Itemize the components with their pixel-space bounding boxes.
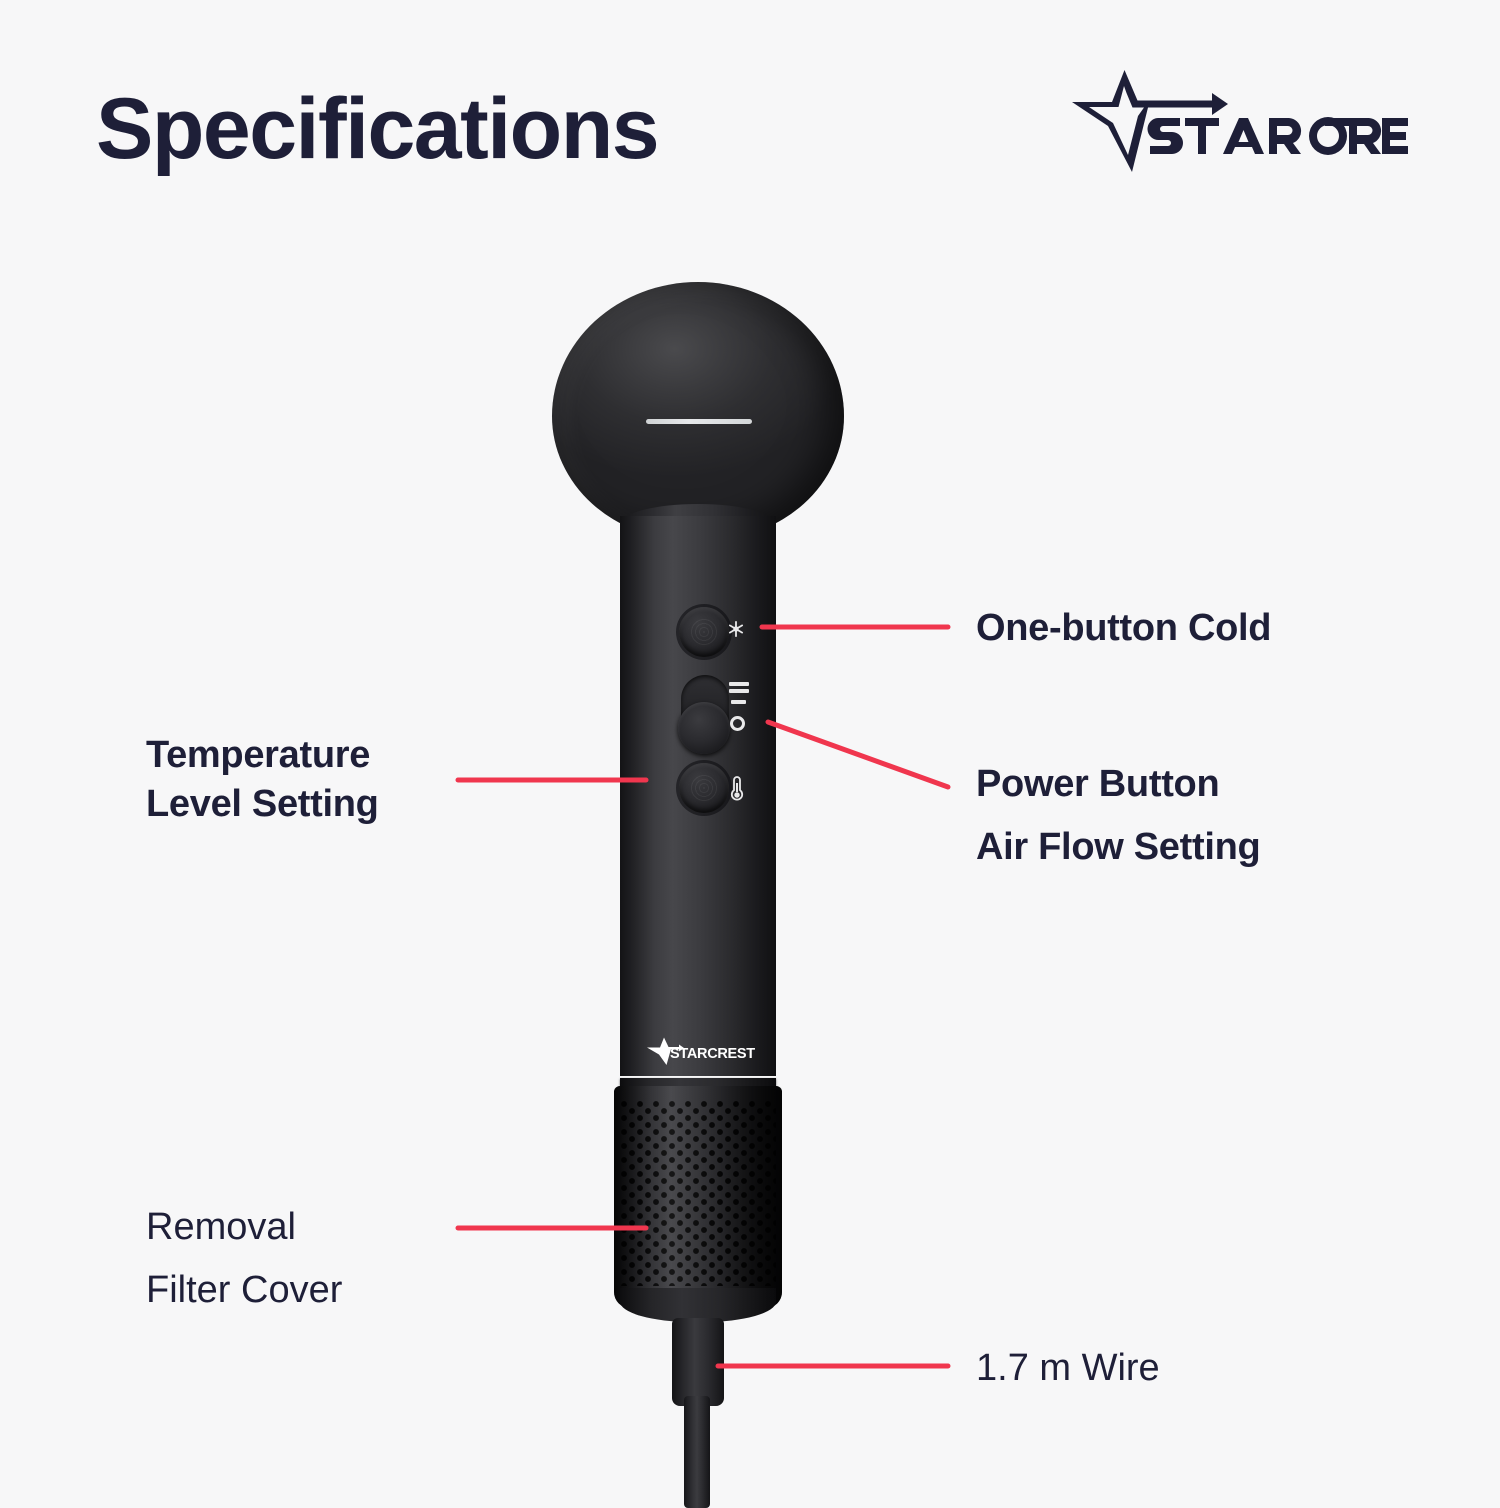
circle-off-icon (730, 716, 745, 731)
cold-shot-button[interactable] (679, 607, 729, 657)
filter-shading (614, 1086, 782, 1308)
handle-brand-logo: STARCREST (645, 1036, 757, 1066)
callout-line: Level Setting (146, 780, 379, 829)
temperature-button[interactable] (679, 763, 729, 813)
thermometer-icon (729, 775, 745, 801)
power-cord (684, 1396, 710, 1508)
svg-text:STARCREST: STARCREST (670, 1046, 755, 1062)
callout-line: Power Button (976, 760, 1219, 809)
callout-line: Filter Cover (146, 1259, 342, 1322)
callout-removal-filter-cover: Removal Filter Cover (146, 1196, 342, 1321)
dryer-nozzle-head (552, 282, 844, 540)
callout-line: One-button Cold (976, 604, 1271, 653)
power-slider-knob[interactable] (678, 702, 730, 754)
nozzle-slot (646, 419, 752, 424)
callout-air-flow-setting: Air Flow Setting (976, 823, 1260, 872)
callout-temperature-level-setting: Temperature Level Setting (146, 731, 379, 828)
infographic-canvas: Specifications (0, 0, 1500, 1500)
callout-line: Air Flow Setting (976, 823, 1260, 872)
callout-line: Removal (146, 1196, 342, 1259)
filter-seam (620, 1078, 776, 1086)
callout-wire-length: 1.7 m Wire (976, 1337, 1160, 1400)
callout-line: 1.7 m Wire (976, 1337, 1160, 1400)
snowflake-icon (727, 620, 745, 638)
callout-one-button-cold: One-button Cold (976, 604, 1271, 653)
cord-strain-relief (672, 1318, 724, 1406)
filter-bottom-cap (620, 1288, 776, 1322)
callout-power-button: Power Button (976, 760, 1219, 809)
filter-cover[interactable] (614, 1086, 782, 1308)
two-bars-icon (729, 682, 749, 691)
one-bar-icon (731, 700, 746, 704)
callout-line: Temperature (146, 731, 379, 780)
